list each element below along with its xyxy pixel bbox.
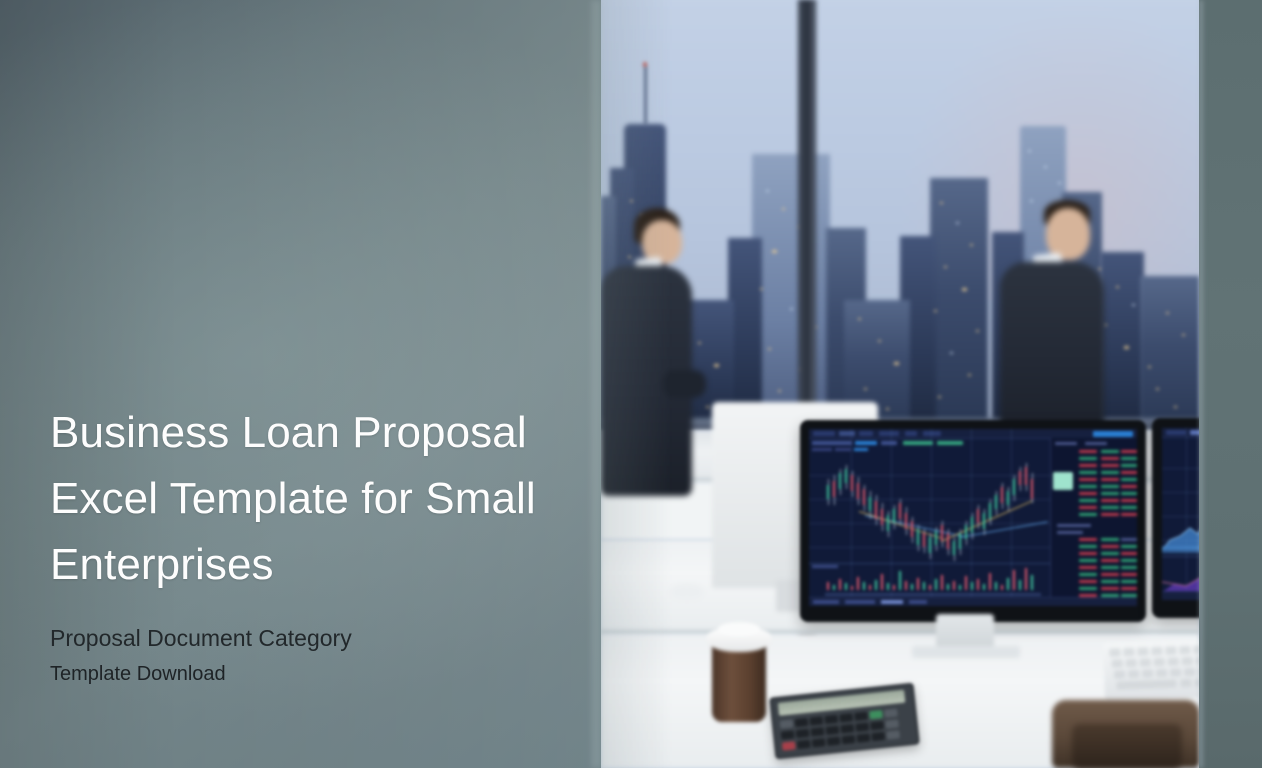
businessman-left [600,200,710,500]
terminal-statusbar-right[interactable] [1162,591,1200,600]
trading-screen-right [1162,428,1200,600]
mini-sub-chart [1162,558,1200,592]
trading-monitor-center[interactable] [800,420,1146,622]
subtitle-category: Proposal Document Category [50,620,570,656]
panel-right-edge [591,0,601,768]
businessman-right [1000,196,1130,446]
trading-screen-center [809,429,1137,606]
monitor-base-center [912,646,1020,658]
businessman-left-arm [662,370,706,398]
trading-monitor-right[interactable] [1152,418,1200,618]
monitor-stand-center [936,614,994,650]
terminal-statusbar[interactable] [809,597,1137,606]
slide-canvas: Business Loan Proposal Excel Template fo… [0,0,1262,768]
mini-area-chart [1162,456,1200,550]
coffee-cup [712,644,766,722]
businessman-right-head [1046,208,1090,260]
businessman-right-suit [1000,262,1104,446]
hero-photo [600,0,1200,768]
right-wall-strip-edge [1199,0,1205,768]
quote-panel[interactable] [1050,438,1137,606]
keyboard[interactable] [1103,637,1200,701]
office-chair-seat [1072,724,1182,768]
right-wall-strip [1199,0,1262,768]
coffee-cup-lid-top [718,622,760,636]
terminal-toolbar-right[interactable] [1162,428,1200,438]
subtitle-download: Template Download [50,658,570,690]
mouse [670,584,704,600]
terminal-action-button[interactable] [1093,431,1133,437]
page-title: Business Loan Proposal Excel Template fo… [50,400,570,598]
text-block: Business Loan Proposal Excel Template fo… [50,400,570,690]
